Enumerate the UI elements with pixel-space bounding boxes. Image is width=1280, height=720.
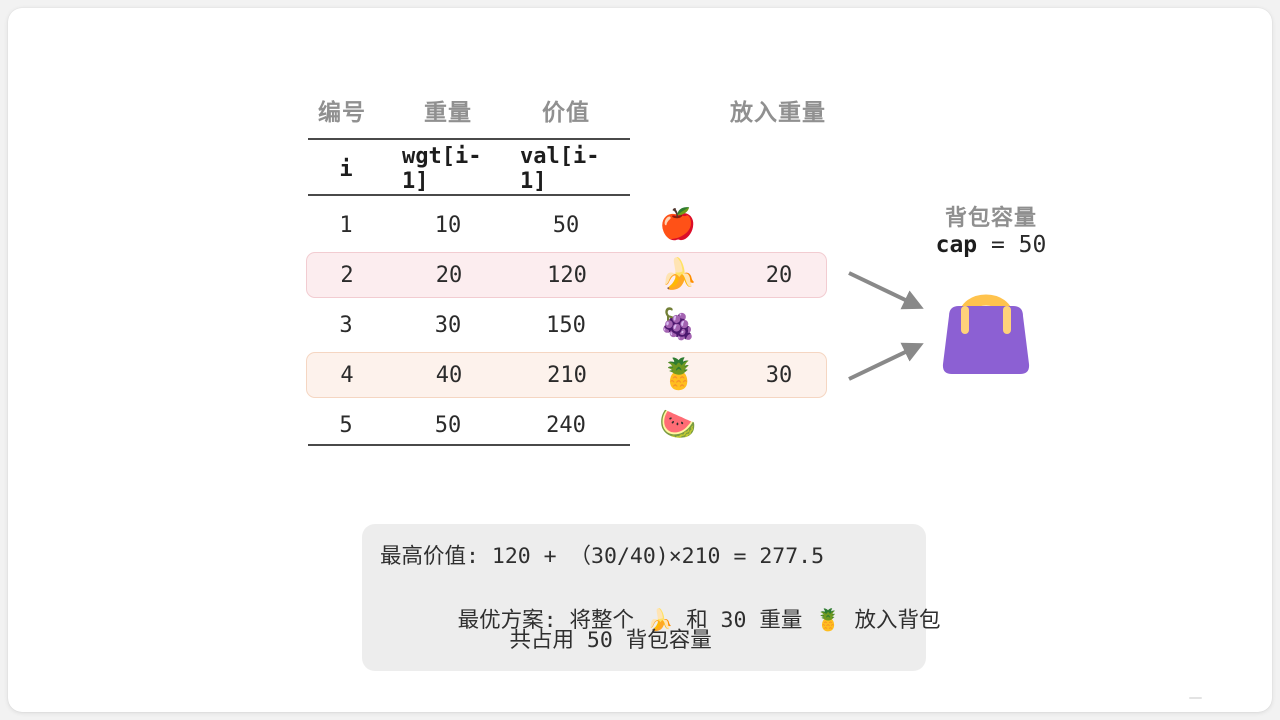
- caption-plan-part-c: 放入背包: [842, 608, 941, 633]
- table-row: 550240🍉: [306, 402, 827, 448]
- cell-put-weight: [716, 302, 840, 348]
- cell-weight: 30: [402, 302, 494, 348]
- cell-value: 210: [521, 353, 613, 397]
- cell-value: 150: [520, 302, 612, 348]
- pineapple-icon: 🍍: [649, 353, 709, 397]
- table-rule-bottom: [308, 444, 630, 446]
- pineapple-icon: 🍍: [815, 608, 841, 632]
- column-header-weight: 重量: [402, 90, 494, 130]
- capacity-title: 背包容量: [906, 200, 1076, 232]
- table-code-header-row: i wgt[i-1] val[i-1]: [306, 146, 827, 192]
- knapsack-table: 编号 重量 价值 放入重量 i wgt[i-1] val[i-1] 11050🍎…: [298, 90, 838, 460]
- table-rule-top: [308, 138, 630, 140]
- handbag-icon: [936, 276, 1036, 380]
- code-header-id: i: [306, 146, 386, 192]
- cell-put-weight: 30: [717, 353, 841, 397]
- table-row: 11050🍎: [306, 202, 827, 248]
- table-row: 330150🍇: [306, 302, 827, 348]
- cell-weight: 40: [403, 353, 495, 397]
- table-row: 440210🍍30: [306, 352, 827, 398]
- cell-id: 3: [306, 302, 386, 348]
- cell-weight: 50: [402, 402, 494, 448]
- cell-id: 2: [307, 253, 387, 297]
- explanation-box: 最高价值: 120 + （30/40)×210 = 277.5 最优方案: 将整…: [362, 524, 926, 671]
- cell-value: 50: [520, 202, 612, 248]
- code-header-value: val[i-1]: [520, 146, 612, 192]
- code-header-weight: wgt[i-1]: [402, 146, 494, 192]
- cell-put-weight: [716, 202, 840, 248]
- caption-line-max-value: 最高价值: 120 + （30/40)×210 = 277.5: [380, 546, 824, 568]
- cell-id: 5: [306, 402, 386, 448]
- cell-weight: 20: [403, 253, 495, 297]
- banana-icon: 🍌: [649, 253, 709, 297]
- table-rule-second: [308, 194, 630, 196]
- table-row: 220120🍌20: [306, 252, 827, 298]
- cell-value: 240: [520, 402, 612, 448]
- cell-id: 4: [307, 353, 387, 397]
- page-speck: [1189, 697, 1202, 699]
- caption-line-total-used: 共占用 50 背包容量: [380, 630, 712, 652]
- cell-put-weight: [716, 402, 840, 448]
- apple-icon: 🍎: [648, 202, 708, 248]
- column-header-id: 编号: [302, 90, 382, 130]
- column-header-put-weight: 放入重量: [716, 90, 840, 130]
- arrow-row4: [849, 345, 920, 379]
- cell-value: 120: [521, 253, 613, 297]
- slide-canvas: 编号 重量 价值 放入重量 i wgt[i-1] val[i-1] 11050🍎…: [8, 8, 1272, 712]
- cell-put-weight: 20: [717, 253, 841, 297]
- grapes-icon: 🍇: [648, 302, 708, 348]
- cell-weight: 10: [402, 202, 494, 248]
- arrows-to-knapsack: [828, 253, 948, 393]
- cell-id: 1: [306, 202, 386, 248]
- watermelon-icon: 🍉: [648, 402, 708, 448]
- column-header-value: 价值: [520, 90, 612, 130]
- arrow-row2: [849, 273, 920, 307]
- capacity-value-expr: = 50: [977, 232, 1046, 258]
